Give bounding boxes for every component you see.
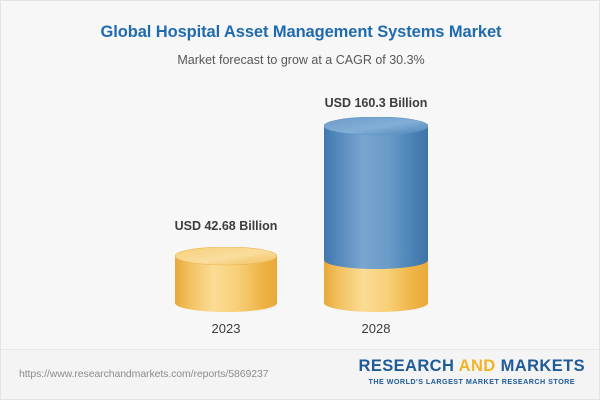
logo-tagline: THE WORLD'S LARGEST MARKET RESEARCH STOR… — [359, 377, 586, 386]
logo-word-markets: MARKETS — [501, 357, 585, 375]
chart-title: Global Hospital Asset Management Systems… — [1, 23, 600, 42]
bar-value-label-2023: USD 42.68 Billion — [126, 219, 326, 233]
logo-wordmark: RESEARCH AND MARKETS — [359, 358, 586, 375]
bar-cylinder-2023 — [175, 247, 277, 313]
report-url[interactable]: https://www.researchandmarkets.com/repor… — [19, 368, 268, 380]
footer-bar: https://www.researchandmarkets.com/repor… — [1, 349, 600, 400]
research-and-markets-logo[interactable]: RESEARCH AND MARKETS THE WORLD'S LARGEST… — [359, 358, 586, 386]
logo-word-and: AND — [459, 357, 496, 375]
chart-plot-area: Global Hospital Asset Management Systems… — [1, 1, 600, 349]
logo-word-research: RESEARCH — [359, 357, 455, 375]
chart-card: Global Hospital Asset Management Systems… — [0, 0, 600, 400]
bar-value-label-2028: USD 160.3 Billion — [276, 96, 476, 110]
x-axis-label-2028: 2028 — [326, 321, 426, 336]
x-axis-label-2023: 2023 — [176, 321, 276, 336]
bar-cylinder-2028 — [324, 117, 428, 313]
chart-subtitle: Market forecast to grow at a CAGR of 30.… — [1, 53, 600, 67]
